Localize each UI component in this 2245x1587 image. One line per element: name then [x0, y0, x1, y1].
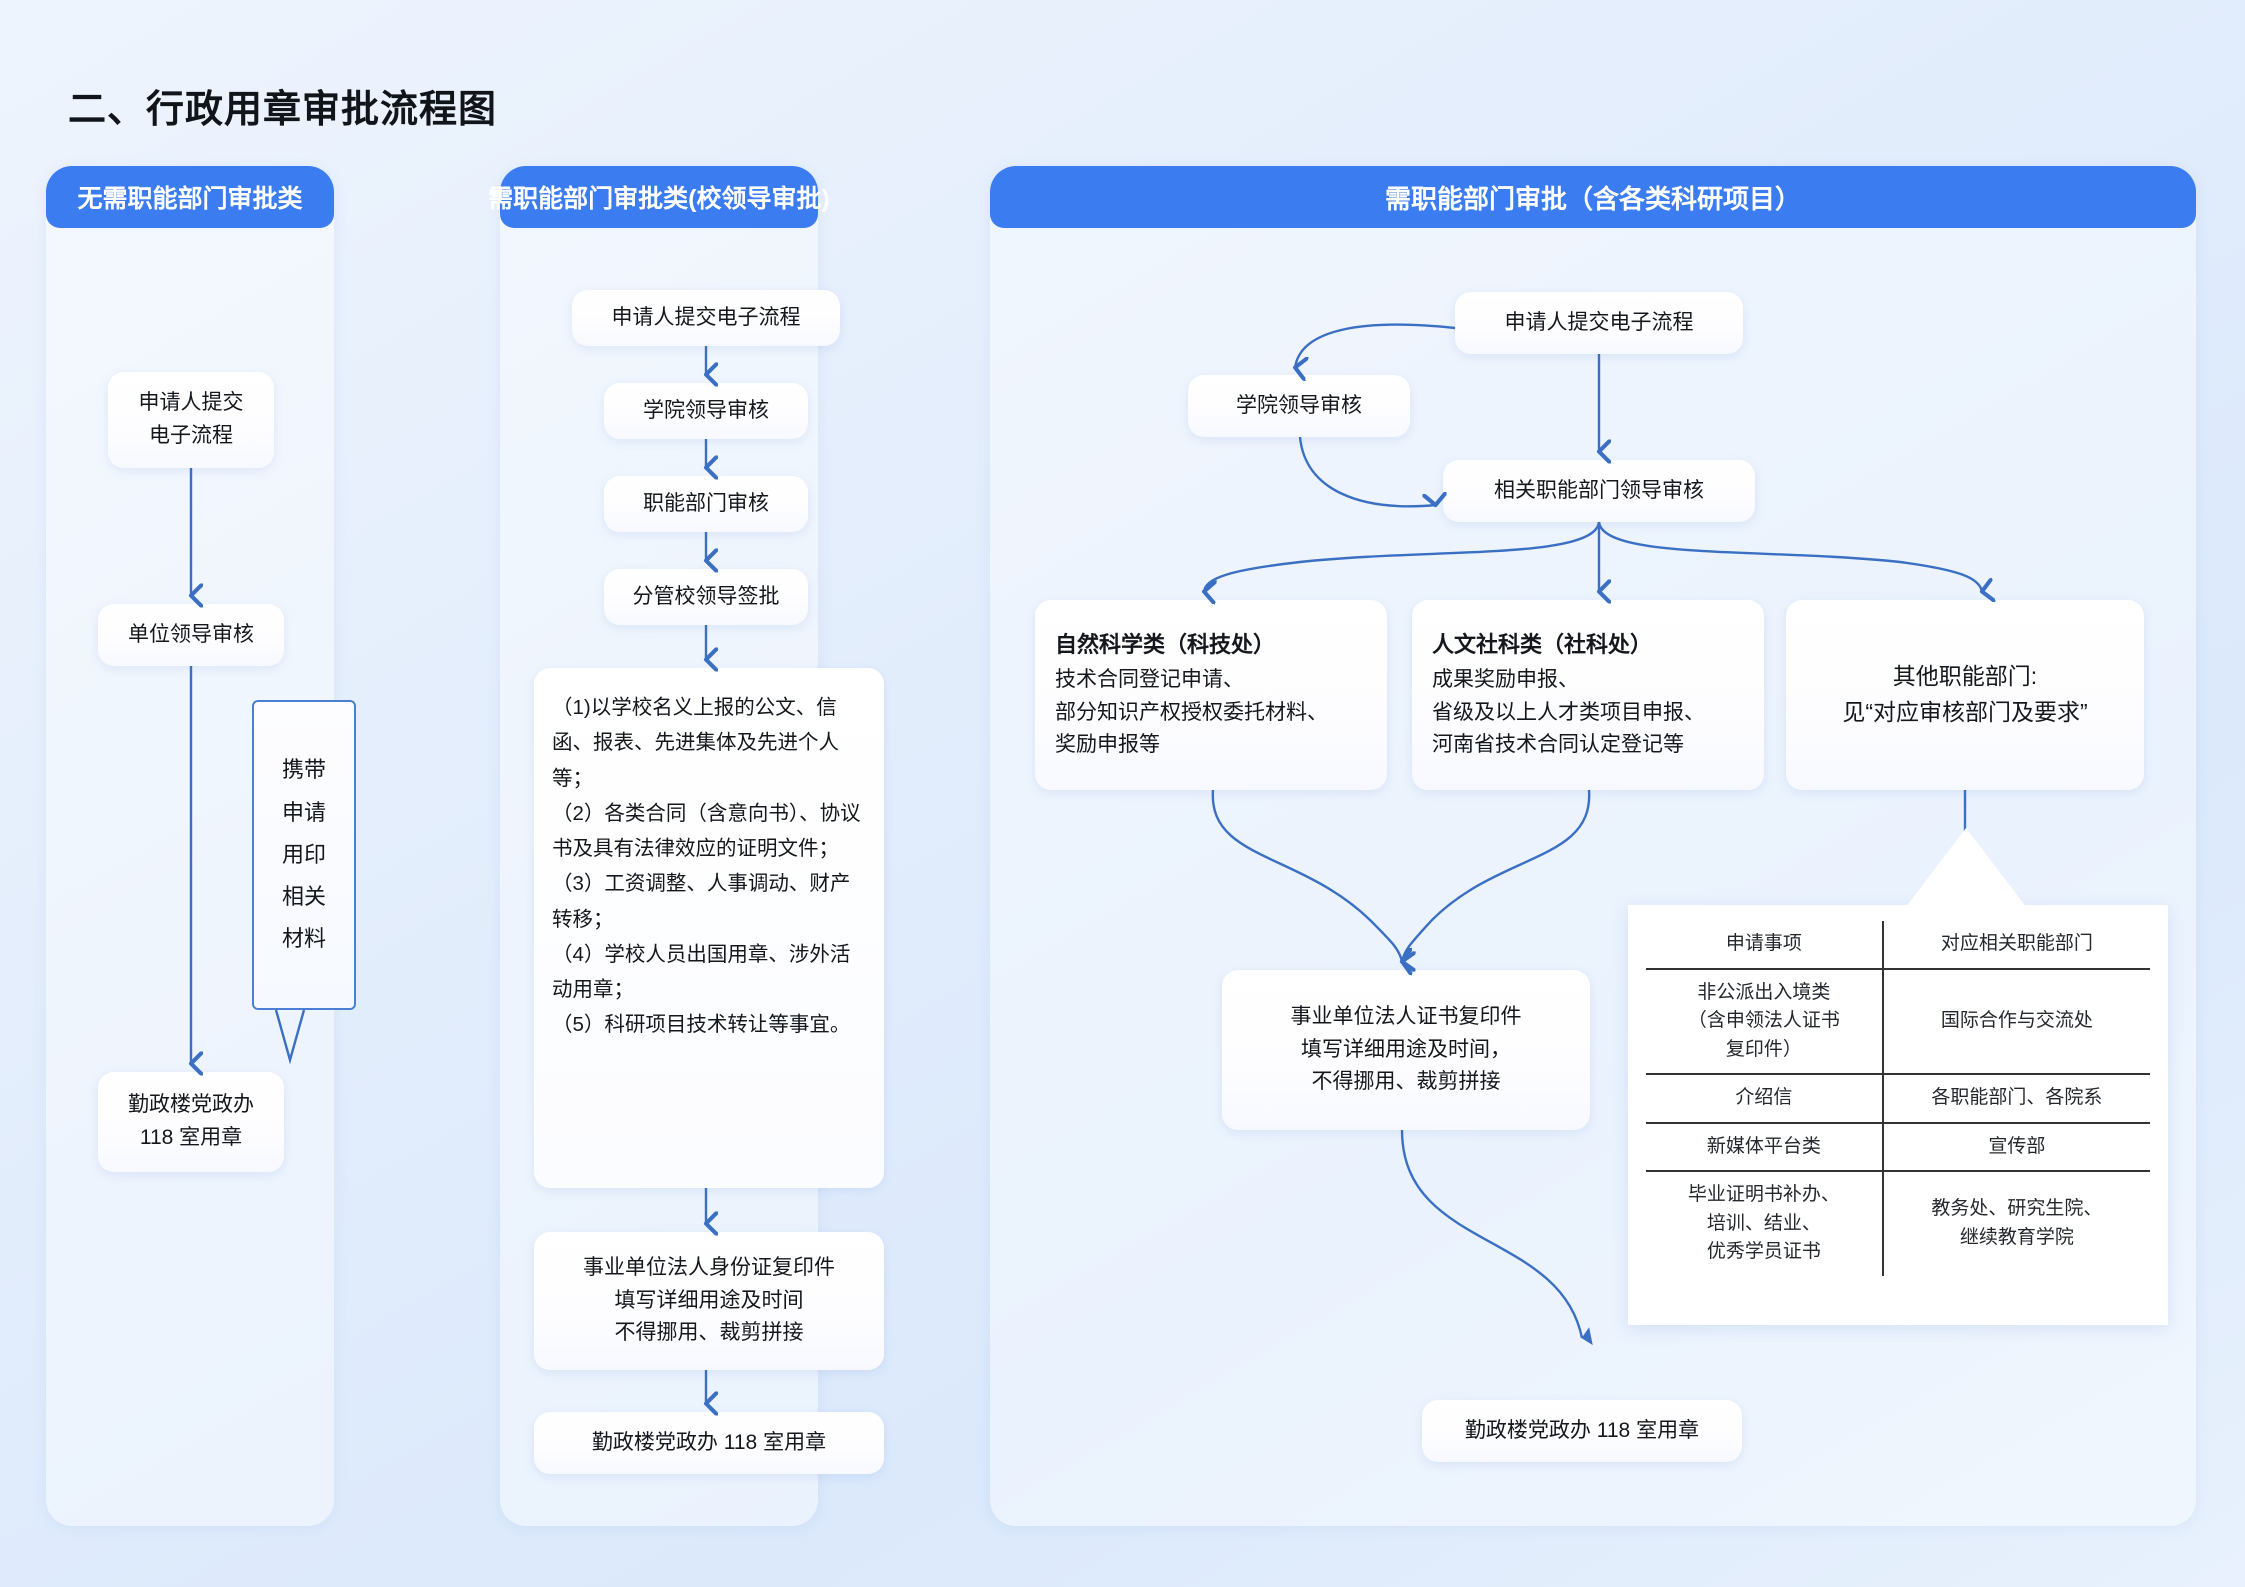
node-c3-legal-person-cert-copy: 事业单位法人证书复印件 填写详细用途及时间， 不得挪用、裁剪拼接	[1222, 970, 1590, 1130]
node-c1-applicant-submit: 申请人提交 电子流程	[108, 372, 274, 468]
table-cell-dept: 宣传部	[1883, 1123, 2150, 1172]
page-title: 二、行政用章审批流程图	[68, 78, 497, 133]
list-item: （2）各类合同（含意向书）、协议书及具有法律效应的证明文件；	[552, 796, 866, 867]
table-cell-item: 非公派出入境类 （含申领法人证书 复印件）	[1646, 969, 1883, 1075]
column-header-2: 需职能部门审批类(校领导审批)	[500, 166, 818, 228]
table-cell-item: 毕业证明书补办、 培训、结业、 优秀学员证书	[1646, 1171, 1883, 1276]
node-c2-vice-president-sign: 分管校领导签批	[604, 569, 808, 625]
table-row: 介绍信 各职能部门、各院系	[1646, 1074, 2150, 1123]
table-row: 新媒体平台类 宣传部	[1646, 1123, 2150, 1172]
node-c3-final-stamp: 勤政楼党政办 118 室用章	[1422, 1400, 1742, 1462]
table-cell-dept: 教务处、研究生院、 继续教育学院	[1883, 1171, 2150, 1276]
node-c1-final-stamp: 勤政楼党政办 118 室用章	[98, 1072, 284, 1172]
node-c2-college-leader-review: 学院领导审核	[604, 383, 808, 439]
table-cell-dept: 国际合作与交流处	[1883, 969, 2150, 1075]
node-c3-applicant-submit: 申请人提交电子流程	[1455, 292, 1743, 354]
node-c2-legal-person-id-copy: 事业单位法人身份证复印件 填写详细用途及时间 不得挪用、裁剪拼接	[534, 1232, 884, 1370]
list-item: （1)以学校名义上报的公文、信函、报表、先进集体及先进个人等；	[552, 690, 866, 796]
table-header-row: 申请事项 对应相关职能部门	[1646, 921, 2150, 969]
node-c1-unit-leader-review: 单位领导审核	[98, 604, 284, 666]
node-c2-applicant-submit: 申请人提交电子流程	[572, 290, 840, 346]
table-cell-dept: 各职能部门、各院系	[1883, 1074, 2150, 1123]
table-cell-item: 介绍信	[1646, 1074, 1883, 1123]
list-item: （4）学校人员出国用章、涉外活动用章；	[552, 937, 866, 1008]
node-c2-scope-list: （1)以学校名义上报的公文、信函、报表、先进集体及先进个人等； （2）各类合同（…	[534, 668, 884, 1188]
table-row: 非公派出入境类 （含申领法人证书 复印件） 国际合作与交流处	[1646, 969, 2150, 1075]
list-item: （3）工资调整、人事调动、财产转移；	[552, 866, 866, 937]
column-header-3: 需职能部门审批（含各类科研项目）	[990, 166, 2196, 228]
list-item: （5）科研项目技术转让等事宜。	[552, 1007, 866, 1042]
node-c3-category-natural-science: 自然科学类（科技处） 技术合同登记申请、 部分知识产权授权委托材料、 奖励申报等	[1035, 600, 1387, 790]
node-c2-functional-dept-review: 职能部门审核	[604, 476, 808, 532]
table-header-item: 申请事项	[1646, 921, 1883, 969]
callout-bring-materials: 携带 申请 用印 相关 材料	[252, 700, 356, 1010]
node-c3-category-humanities: 人文社科类（社科处） 成果奖励申报、 省级及以上人才类项目申报、 河南省技术合同…	[1412, 600, 1764, 790]
node-c2-final-stamp: 勤政楼党政办 118 室用章	[534, 1412, 884, 1474]
table-header-dept: 对应相关职能部门	[1883, 921, 2150, 969]
column-header-1: 无需职能部门审批类	[46, 166, 334, 228]
node-c3-functional-dept-leader-review: 相关职能部门领导审核	[1443, 460, 1755, 522]
node-c3-category-other-depts: 其他职能部门: 见“对应审核部门及要求”	[1786, 600, 2144, 790]
flowchart-page: 二、行政用章审批流程图 无需职能部门审批类 申请人提交 电子流程 单位领导审核 …	[0, 0, 2245, 1587]
table-row: 毕业证明书补办、 培训、结业、 优秀学员证书 教务处、研究生院、 继续教育学院	[1646, 1171, 2150, 1276]
dept-mapping-table: 申请事项 对应相关职能部门 非公派出入境类 （含申领法人证书 复印件） 国际合作…	[1628, 905, 2168, 1325]
table-cell-item: 新媒体平台类	[1646, 1123, 1883, 1172]
node-c3-college-leader-review: 学院领导审核	[1188, 375, 1410, 437]
